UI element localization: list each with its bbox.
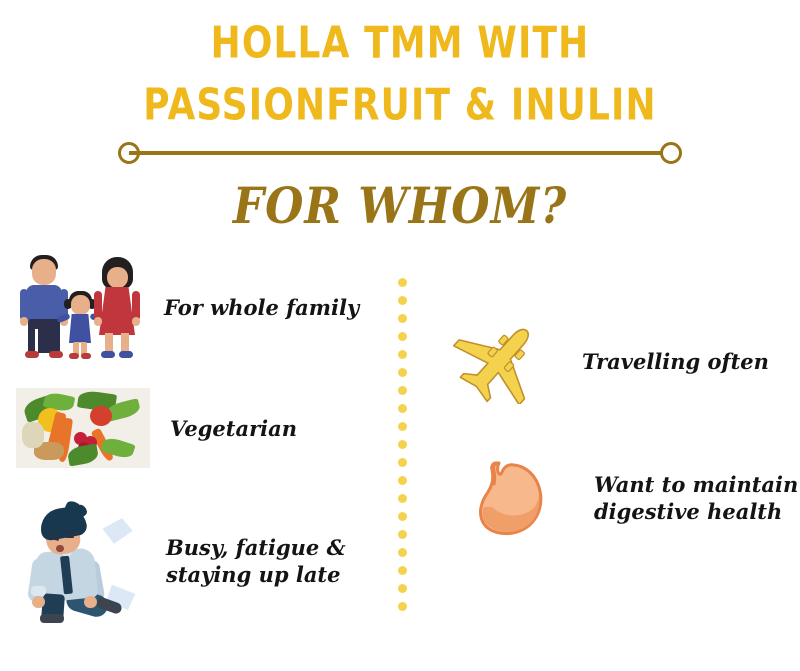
list-item-whole-family: For whole family — [12, 255, 359, 360]
paper-sheet-icon — [101, 516, 134, 546]
tired-businessman-icon — [18, 500, 144, 622]
divider-dot — [398, 350, 407, 359]
list-item-travelling: Travelling often — [450, 318, 769, 404]
vertical-dotted-divider — [398, 278, 408, 610]
divider-dot — [398, 494, 407, 503]
family-father-figure — [20, 255, 68, 360]
divider-dot — [398, 368, 407, 377]
divider-dot — [398, 512, 407, 521]
divider-dot — [398, 332, 407, 341]
family-illustration-icon — [12, 255, 142, 360]
family-child-figure — [62, 291, 98, 360]
title-block: HOLLA TMM WITH PASSIONFRUIT & INULIN — [0, 14, 800, 126]
section-title: FOR WHOM? — [0, 178, 800, 235]
list-item-label: Travelling often — [582, 348, 769, 375]
divider-dot — [398, 314, 407, 323]
divider-dot — [398, 548, 407, 557]
divider-dot — [398, 458, 407, 467]
divider-dot — [398, 404, 407, 413]
horizontal-divider — [118, 142, 682, 164]
divider-dot — [398, 530, 407, 539]
vegetables-photo-icon — [16, 388, 150, 468]
list-item-label: Busy, fatigue & staying up late — [166, 534, 346, 588]
stomach-icon — [470, 455, 556, 541]
divider-dot — [398, 296, 407, 305]
divider-dot — [398, 566, 407, 575]
divider-dot — [398, 476, 407, 485]
divider-bar — [129, 151, 671, 155]
title-line-2: PASSIONFRUIT & INULIN — [12, 76, 788, 135]
divider-knob-right-icon — [660, 142, 682, 164]
divider-dot — [398, 386, 407, 395]
list-item-label: For whole family — [164, 294, 359, 321]
divider-dot — [398, 422, 407, 431]
family-mother-figure — [94, 257, 140, 360]
list-item-label: Vegetarian — [170, 415, 297, 442]
list-item-digestive-health: Want to maintain digestive health — [470, 455, 798, 541]
list-item-vegetarian: Vegetarian — [16, 388, 297, 468]
infographic-canvas: HOLLA TMM WITH PASSIONFRUIT & INULIN FOR… — [0, 0, 800, 671]
title-line-1: HOLLA TMM WITH — [12, 14, 788, 73]
list-item-label: Want to maintain digestive health — [594, 471, 798, 525]
divider-dot — [398, 440, 407, 449]
divider-dot — [398, 584, 407, 593]
divider-dot — [398, 278, 407, 287]
list-item-busy-fatigue: Busy, fatigue & staying up late — [18, 500, 346, 622]
divider-dot — [398, 602, 407, 611]
airplane-icon — [450, 318, 554, 404]
